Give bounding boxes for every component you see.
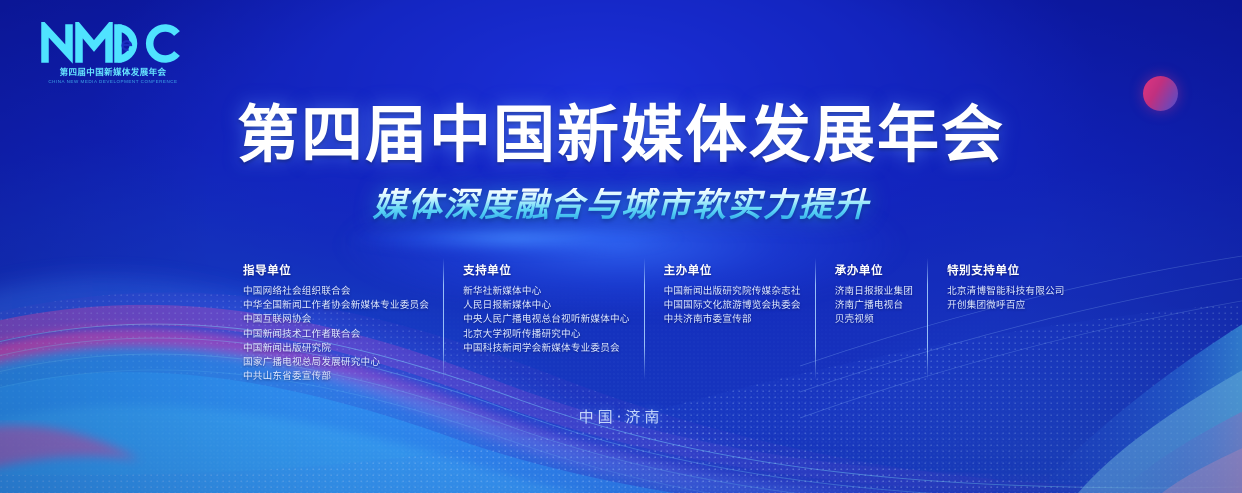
conference-poster: 第四届中国新媒体发展年会 CHINA NEW MEDIA DEVELOPMENT…	[0, 0, 1242, 493]
unit-item: 中国新闻出版研究院	[243, 342, 429, 356]
unit-column-heading: 支持单位	[463, 262, 630, 278]
organizing-units-block: 指导单位中国网络社会组织联合会中华全国新闻工作者协会新媒体专业委员会中国互联网协…	[243, 262, 1003, 384]
unit-item: 中华全国新闻工作者协会新媒体专业委员会	[243, 299, 429, 313]
unit-column-3: 主办单位中国新闻出版研究院传媒杂志社中国国际文化旅游博览会执委会中共济南市委宣传…	[644, 262, 815, 328]
unit-column-1: 指导单位中国网络社会组织联合会中华全国新闻工作者协会新媒体专业委员会中国互联网协…	[243, 262, 443, 384]
unit-item: 北京清博智能科技有限公司	[947, 285, 1065, 299]
unit-item: 中共山东省委宣传部	[243, 370, 429, 384]
unit-item: 贝壳视频	[835, 313, 913, 327]
unit-column-5: 特别支持单位北京清博智能科技有限公司开创集团微呼百应	[927, 262, 1065, 313]
unit-item: 人民日报新媒体中心	[463, 299, 630, 313]
column-divider	[927, 258, 928, 380]
unit-item: 北京大学视听传播研究中心	[463, 328, 630, 342]
logo-english-line: CHINA NEW MEDIA DEVELOPMENT CONFERENCE	[40, 79, 187, 84]
main-title: 第四届中国新媒体发展年会	[0, 104, 1242, 166]
conference-logo: 第四届中国新媒体发展年会 CHINA NEW MEDIA DEVELOPMENT…	[38, 22, 188, 84]
unit-item: 新华社新媒体中心	[463, 285, 630, 299]
unit-item: 中国互联网协会	[243, 313, 429, 327]
unit-column-heading: 主办单位	[664, 262, 801, 278]
column-divider	[443, 258, 444, 380]
event-location: 中国·济南	[0, 406, 1242, 427]
unit-column-heading: 承办单位	[835, 262, 913, 278]
column-divider	[815, 258, 816, 380]
unit-column-heading: 指导单位	[243, 262, 429, 278]
subtitle: 媒体深度融合与城市软实力提升	[0, 188, 1242, 222]
unit-column-2: 支持单位新华社新媒体中心人民日报新媒体中心中央人民广播电视总台视听新媒体中心北京…	[443, 262, 644, 356]
unit-item: 济南广播电视台	[835, 299, 913, 313]
unit-item: 济南日报报业集团	[835, 285, 913, 299]
unit-column-4: 承办单位济南日报报业集团济南广播电视台贝壳视频	[815, 262, 927, 328]
unit-item: 中国国际文化旅游博览会执委会	[664, 299, 801, 313]
nmdc-logo-mark	[38, 22, 188, 64]
unit-item: 中国新闻技术工作者联合会	[243, 328, 429, 342]
unit-item: 中国网络社会组织联合会	[243, 285, 429, 299]
unit-item: 中国新闻出版研究院传媒杂志社	[664, 285, 801, 299]
unit-item: 开创集团微呼百应	[947, 299, 1065, 313]
column-divider	[644, 258, 645, 380]
unit-item: 国家广播电视总局发展研究中心	[243, 356, 429, 370]
unit-item: 中共济南市委宣传部	[664, 313, 801, 327]
unit-column-heading: 特别支持单位	[947, 262, 1065, 278]
logo-chinese-line: 第四届中国新媒体发展年会	[38, 66, 188, 78]
unit-item: 中央人民广播电视总台视听新媒体中心	[463, 313, 630, 327]
unit-item: 中国科技新闻学会新媒体专业委员会	[463, 342, 630, 356]
